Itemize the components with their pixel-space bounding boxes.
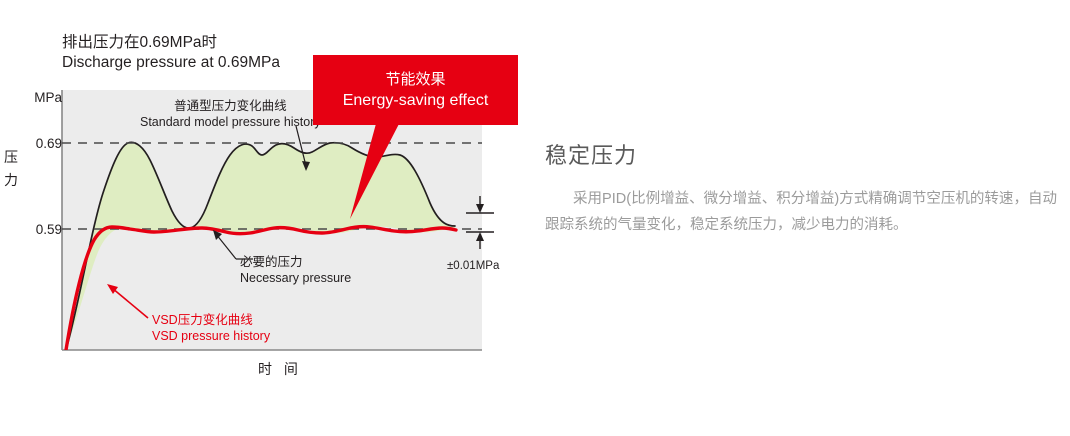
panel-body: 采用PID(比例增益、微分增益、积分增益)方式精确调节空压机的转速，自动跟踪系统… [545, 186, 1057, 238]
panel-body-text: 采用PID(比例增益、微分增益、积分增益)方式精确调节空压机的转速，自动跟踪系统… [545, 191, 1057, 233]
y-axis-label: 压 力 [2, 146, 20, 192]
page-root: 排出压力在0.69MPa时Discharge pressure at 0.69M… [0, 0, 1070, 436]
panel-title: 稳定压力 [545, 138, 637, 170]
annotation-necessary-cn: 必要的压力 [240, 255, 303, 269]
x-axis-label: 时 间 [200, 359, 360, 379]
annotation-vsd-curve: VSD压力变化曲线VSD pressure history [152, 313, 270, 344]
callout-label-en: Energy-saving effect [343, 90, 489, 112]
annotation-vsd-en: VSD pressure history [152, 329, 270, 343]
annotation-standard-cn: 普通型压力变化曲线 [174, 99, 287, 113]
annotation-vsd-cn: VSD压力变化曲线 [152, 313, 253, 327]
pressure-figure: 排出压力在0.69MPa时Discharge pressure at 0.69M… [0, 0, 540, 436]
annotation-standard-en: Standard model pressure history [140, 115, 321, 129]
energy-saving-callout: 节能效果 Energy-saving effect [313, 55, 518, 125]
annotation-necessary-en: Necessary pressure [240, 271, 351, 285]
annotation-standard-curve: 普通型压力变化曲线Standard model pressure history [140, 99, 321, 130]
description-panel: 稳定压力 采用PID(比例增益、微分增益、积分增益)方式精确调节空压机的转速，自… [545, 0, 1070, 436]
y-tick-059: 0.59 [18, 222, 62, 237]
callout-label-cn: 节能效果 [385, 69, 445, 90]
annotation-tolerance: ±0.01MPa [447, 259, 499, 275]
y-tick-069: 0.69 [18, 136, 62, 151]
annotation-necessary-pressure: 必要的压力Necessary pressure [240, 255, 351, 286]
y-axis-unit: MPa [22, 90, 62, 105]
